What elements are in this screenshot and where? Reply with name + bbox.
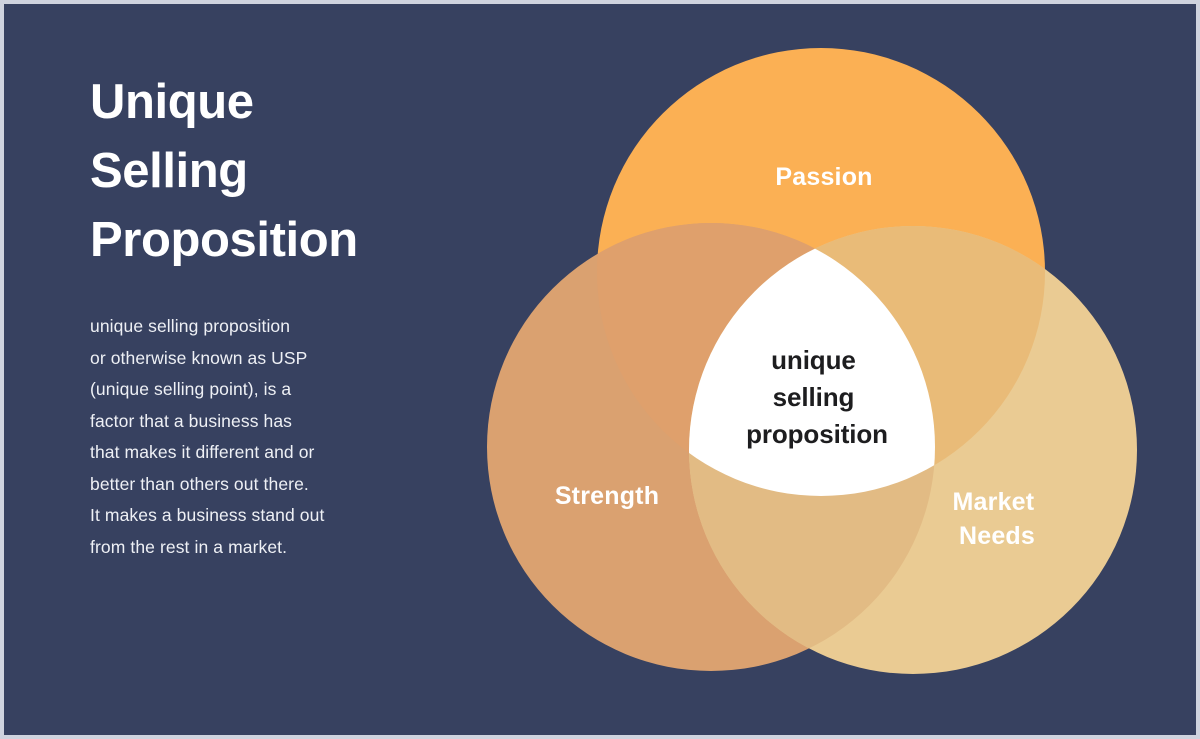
venn-center-line-1: unique (771, 345, 856, 375)
page-title: Unique Selling Proposition (90, 68, 420, 275)
venn-center-line-2: selling (773, 382, 855, 412)
slide-canvas: Passion Strength Market Needs unique sel… (0, 0, 1200, 739)
venn-label-strength: Strength (555, 482, 659, 510)
left-text-panel: Unique Selling Proposition unique sellin… (90, 68, 420, 563)
venn-center-line-3: proposition (746, 419, 888, 449)
venn-label-market-line-1: Market (953, 488, 1035, 516)
body-paragraph: unique selling proposition or otherwise … (90, 311, 420, 563)
venn-label-passion: Passion (775, 163, 872, 191)
venn-label-market-line-2: Needs (959, 522, 1035, 550)
